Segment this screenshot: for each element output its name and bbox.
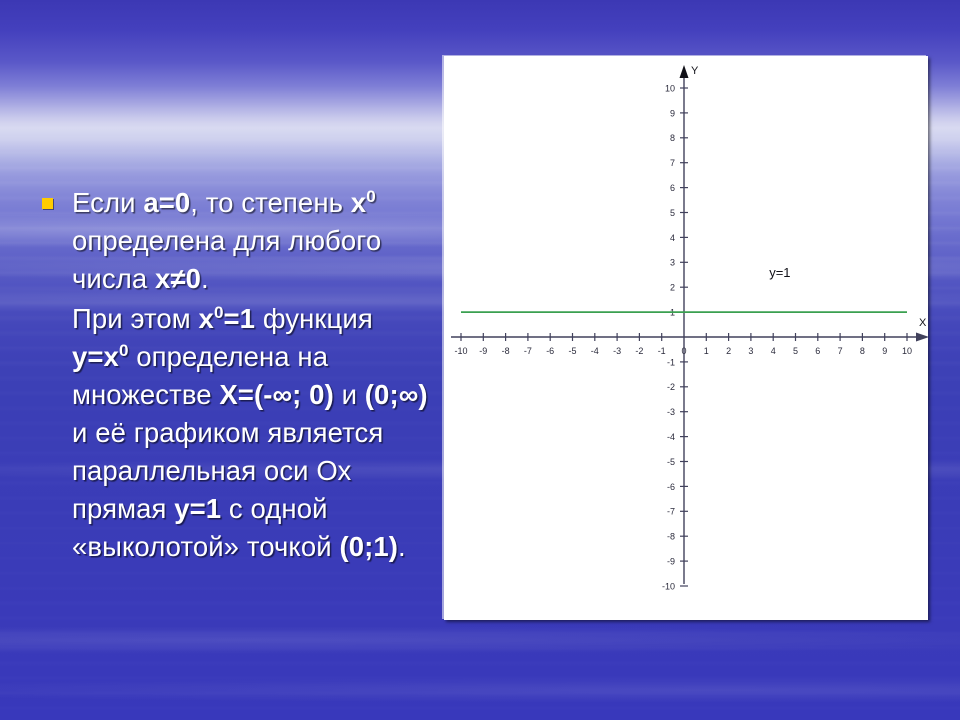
chart-axes — [451, 65, 928, 584]
chart-axis-names: XY — [691, 65, 927, 329]
y-tick-label: -5 — [667, 457, 675, 467]
y-tick-label: -6 — [667, 482, 675, 492]
x-tick-label: -9 — [479, 346, 487, 356]
y-tick-label: 9 — [670, 108, 675, 118]
y-tick-label: -4 — [667, 432, 675, 442]
y-tick-label: 3 — [670, 258, 675, 268]
slide-canvas: Если a=0, то степень x0 определена для л… — [0, 0, 960, 720]
x-tick-label: 10 — [902, 346, 912, 356]
p1-seg6: x≠0 — [155, 263, 201, 294]
x-tick-label: -5 — [568, 346, 576, 356]
y-axis-arrow — [680, 65, 689, 78]
p2-seg11: y=1 — [174, 493, 221, 524]
square-bullet-icon — [42, 198, 53, 209]
paragraph-2: При этом x0=1 функция y=x0 определена на… — [34, 300, 434, 566]
y-tick-label: -2 — [667, 382, 675, 392]
y-tick-label: 4 — [670, 233, 675, 243]
p2-seg9: (0;∞) — [365, 379, 428, 410]
x-tick-label: 7 — [838, 346, 843, 356]
p1-seg2: a=0 — [143, 187, 190, 218]
p1-seg7: . — [201, 263, 209, 294]
x-tick-label: -7 — [524, 346, 532, 356]
p2-seg5: y=x — [72, 341, 119, 372]
y-tick-label: 6 — [670, 183, 675, 193]
x-tick-label: -4 — [591, 346, 599, 356]
x-tick-label: -3 — [613, 346, 621, 356]
p2-seg4: функция — [255, 303, 373, 334]
x-tick-label: 2 — [726, 346, 731, 356]
p1-seg4: x — [351, 187, 366, 218]
p1-seg1: Если — [72, 187, 143, 218]
y-tick-label: 7 — [670, 158, 675, 168]
x-tick-label: 8 — [860, 346, 865, 356]
p1-seg5: определена для любого числа — [72, 225, 381, 294]
p2-seg2: x — [199, 303, 214, 334]
paragraph-1: Если a=0, то степень x0 определена для л… — [72, 184, 434, 298]
coordinate-plane-chart: -10-9-8-7-6-5-4-3-2-1012345678910 109876… — [444, 56, 928, 620]
x-tick-label: 3 — [748, 346, 753, 356]
series-annotation-label: y=1 — [769, 265, 790, 280]
p2-seg3: =1 — [224, 303, 256, 334]
x-tick-label: 9 — [882, 346, 887, 356]
y-tick-label: 5 — [670, 208, 675, 218]
y-tick-label: -9 — [667, 557, 675, 567]
x-tick-label: 0 — [681, 346, 686, 356]
graph-panel: -10-9-8-7-6-5-4-3-2-1012345678910 109876… — [444, 56, 928, 620]
x-tick-label: 4 — [771, 346, 776, 356]
p1-seg3: , то степень — [190, 187, 350, 218]
y-tick-label: -10 — [662, 581, 675, 591]
p2-seg14: . — [398, 531, 406, 562]
y-tick-label: 8 — [670, 133, 675, 143]
text-body: Если a=0, то степень x0 определена для л… — [34, 184, 434, 566]
p2-seg8: и — [334, 379, 365, 410]
p2-seg13: (0;1) — [339, 531, 398, 562]
bullet-item: Если a=0, то степень x0 определена для л… — [34, 184, 434, 298]
p2-seg1: При этом — [72, 303, 199, 334]
x-tick-label: -10 — [454, 346, 467, 356]
x-tick-label: -1 — [658, 346, 666, 356]
x-axis-name: X — [919, 317, 927, 329]
x-tick-label: -6 — [546, 346, 554, 356]
y-tick-label: -1 — [667, 357, 675, 367]
x-tick-label: 5 — [793, 346, 798, 356]
p1-seg4-exponent: 0 — [366, 187, 376, 206]
x-tick-label: 1 — [704, 346, 709, 356]
p2-seg2-exponent: 0 — [214, 303, 224, 322]
y-tick-label: -3 — [667, 407, 675, 417]
x-tick-label: -8 — [502, 346, 510, 356]
x-axis-arrow — [916, 333, 928, 342]
p2-seg7: X=(-∞; 0) — [219, 379, 333, 410]
y-tick-label: -8 — [667, 532, 675, 542]
y-tick-label: 2 — [670, 283, 675, 293]
p2-seg5-exponent: 0 — [119, 341, 129, 360]
x-tick-label: 6 — [815, 346, 820, 356]
y-tick-label: 10 — [665, 83, 675, 93]
y-axis-name: Y — [691, 65, 699, 77]
y-tick-label: -7 — [667, 507, 675, 517]
x-tick-label: -2 — [635, 346, 643, 356]
